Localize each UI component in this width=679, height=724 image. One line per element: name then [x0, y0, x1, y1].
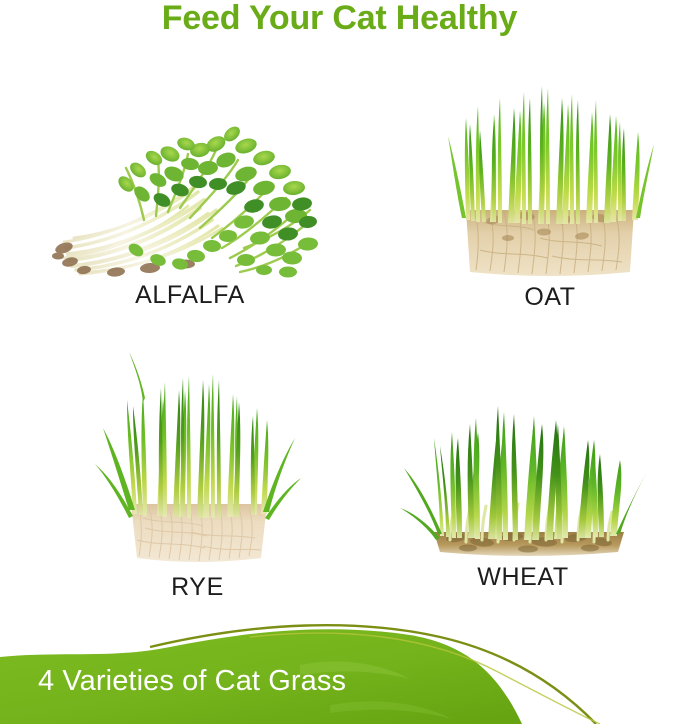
alfalfa-sprouts-icon [40, 88, 340, 278]
wheat-grass-icon [398, 370, 648, 562]
variety-card-alfalfa: ALFALFA [40, 88, 340, 318]
infographic-page: Feed Your Cat Healthy [0, 0, 679, 724]
page-title: Feed Your Cat Healthy [0, 0, 679, 40]
banner-text: 4 Varieties of Cat Grass [38, 665, 346, 698]
bottom-banner: 4 Varieties of Cat Grass [0, 619, 679, 724]
variety-card-rye: RYE [85, 322, 310, 610]
variety-label-rye: RYE [85, 572, 310, 602]
variety-card-oat: OAT [440, 60, 660, 318]
variety-label-oat: OAT [440, 282, 660, 312]
rye-grass-icon [85, 322, 310, 572]
variety-label-wheat: WHEAT [398, 562, 648, 592]
oat-grass-icon [440, 60, 660, 285]
variety-card-wheat: WHEAT [398, 370, 648, 610]
variety-label-alfalfa: ALFALFA [40, 280, 340, 310]
